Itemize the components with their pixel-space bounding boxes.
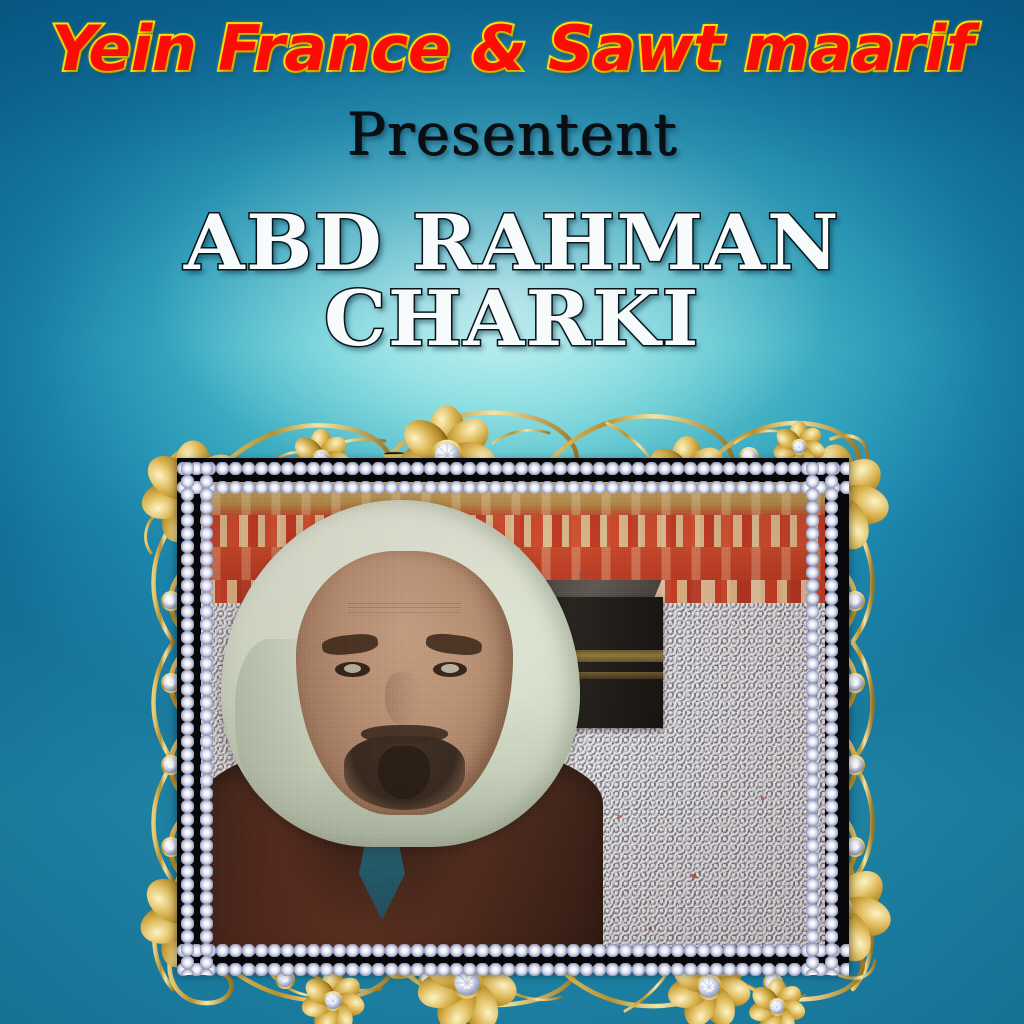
portrait-subject xyxy=(213,491,587,947)
eyebrow-left xyxy=(321,632,379,656)
forehead-lines xyxy=(348,603,461,635)
cover-text-block: Yein France & Sawt maarif Presentent ABD… xyxy=(0,0,1024,357)
label-presenter-title: Yein France & Sawt maarif xyxy=(0,0,1024,81)
eyebrow-right xyxy=(425,632,483,657)
face xyxy=(296,551,513,815)
label-artist-name: ABD RAHMAN CHARKI xyxy=(0,163,1024,357)
cover-photo xyxy=(177,458,849,971)
nose xyxy=(385,672,420,725)
mustache xyxy=(361,725,448,744)
photo-image xyxy=(201,482,825,947)
label-presentent: Presentent xyxy=(0,81,1024,163)
album-cover: Yein France & Sawt maarif Presentent ABD… xyxy=(0,0,1024,1024)
gold-flower xyxy=(299,969,366,1024)
gold-flower xyxy=(747,978,807,1024)
